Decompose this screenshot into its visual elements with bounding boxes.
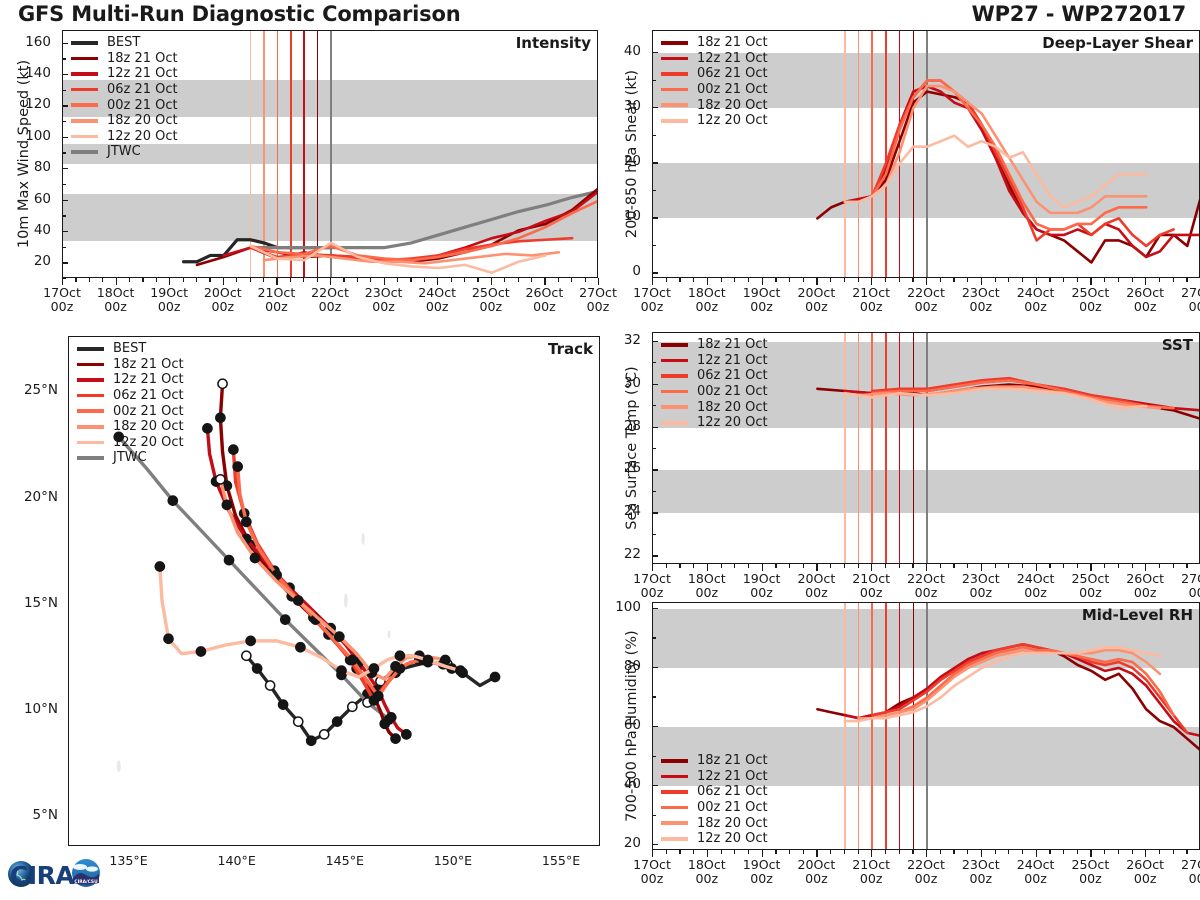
series-line xyxy=(845,644,1200,736)
x-axis-tick-mark xyxy=(762,564,763,571)
x-axis-minor-tick xyxy=(789,564,790,568)
y-axis-minor-tick xyxy=(652,448,656,449)
x-axis-minor-tick xyxy=(803,564,804,568)
x-axis-minor-tick xyxy=(912,850,913,854)
panel-rh: Mid-Level RH18z 21 Oct12z 21 Oct06z 21 O… xyxy=(608,602,1200,896)
x-axis-minor-tick xyxy=(1173,564,1174,568)
legend-item: 18z 21 Oct xyxy=(661,337,768,353)
x-axis-minor-tick xyxy=(1118,278,1119,282)
legend-item: 18z 20 Oct xyxy=(661,399,768,415)
legend-item: 00z 21 Oct xyxy=(71,97,178,113)
track-position-marker xyxy=(337,666,346,675)
x-axis-minor-tick xyxy=(1022,564,1023,568)
x-axis-minor-tick xyxy=(1104,278,1105,282)
y-axis-minor-tick xyxy=(62,90,66,91)
legend-item-label: 00z 21 Oct xyxy=(697,800,768,815)
track-position-marker xyxy=(307,736,316,745)
legend-item-label: BEST xyxy=(107,35,140,50)
y-axis-minor-tick xyxy=(62,152,66,153)
x-axis-minor-tick xyxy=(263,278,264,282)
legend-color-swatch xyxy=(661,775,688,779)
legend-item: 12z 20 Oct xyxy=(71,129,178,145)
x-axis-minor-tick xyxy=(789,278,790,282)
x-axis-minor-tick xyxy=(209,278,210,282)
x-axis-tick-mark xyxy=(816,278,817,285)
x-axis-minor-tick xyxy=(1104,564,1105,568)
x-axis-minor-tick xyxy=(858,564,859,568)
x-axis-minor-tick xyxy=(666,850,667,854)
legend-item: 18z 20 Oct xyxy=(661,815,768,831)
track-position-marker xyxy=(216,475,225,484)
legend-color-swatch xyxy=(661,405,688,409)
legend-item: BEST xyxy=(71,35,178,51)
panel-title-mid-level-rh: Mid-Level RH xyxy=(1082,606,1193,624)
x-axis-minor-tick xyxy=(1049,278,1050,282)
y-axis-minor-tick xyxy=(62,137,66,138)
x-axis-tick-label: 27Oct00z xyxy=(1160,858,1200,886)
track-position-marker xyxy=(203,424,212,433)
y-axis-minor-tick xyxy=(652,815,656,816)
y-axis-minor-tick xyxy=(652,534,656,535)
legend-item-label: 12z 20 Oct xyxy=(697,415,768,430)
legend-color-swatch xyxy=(661,88,688,92)
x-axis-minor-tick xyxy=(518,278,519,282)
plot-area-sst: SST18z 21 Oct12z 21 Oct06z 21 Oct00z 21 … xyxy=(652,332,1200,564)
legend-item: JTWC xyxy=(71,144,178,160)
y-axis-minor-tick xyxy=(62,58,66,59)
legend-item: 12z 21 Oct xyxy=(661,51,768,67)
x-axis-minor-tick xyxy=(844,850,845,854)
x-axis-minor-tick xyxy=(142,278,143,282)
x-axis-minor-tick xyxy=(1186,278,1187,282)
x-axis-minor-tick xyxy=(317,278,318,282)
x-axis-minor-tick xyxy=(129,278,130,282)
y-axis-minor-tick xyxy=(652,726,656,727)
legend-item-label: 18z 20 Oct xyxy=(107,113,178,128)
x-axis-minor-tick xyxy=(967,278,968,282)
legend-item: BEST xyxy=(77,341,184,357)
track-position-marker xyxy=(294,596,303,605)
track-position-marker xyxy=(348,702,357,711)
x-axis-tick-mark xyxy=(871,278,872,285)
x-axis-tick-label: 27Oct00z xyxy=(1160,286,1200,314)
x-axis-tick-mark xyxy=(1145,278,1146,285)
x-axis-tick-mark xyxy=(652,564,653,571)
legend-item: 00z 21 Oct xyxy=(661,800,768,816)
x-axis-minor-tick xyxy=(303,278,304,282)
x-axis-minor-tick xyxy=(666,278,667,282)
y-axis-label: 700-500 hPa Humidity (%) xyxy=(624,602,640,850)
y-axis-tick-label: 5°N xyxy=(0,807,58,823)
y-axis-minor-tick xyxy=(652,341,656,342)
x-axis-minor-tick xyxy=(830,278,831,282)
legend-item: 06z 21 Oct xyxy=(77,388,184,404)
y-axis-minor-tick xyxy=(652,469,656,470)
legend-color-swatch xyxy=(71,119,98,123)
svg-text:CIRA: CIRA xyxy=(10,861,75,890)
x-axis-tick-mark xyxy=(871,850,872,857)
legend-item-label: 12z 20 Oct xyxy=(113,435,184,450)
legend-color-swatch xyxy=(71,103,98,107)
x-axis-minor-tick xyxy=(679,850,680,854)
legend-color-swatch xyxy=(661,390,688,394)
y-axis-minor-tick xyxy=(62,74,66,75)
x-axis-minor-tick xyxy=(1132,278,1133,282)
y-axis-minor-tick xyxy=(652,190,656,191)
series-line xyxy=(251,201,598,261)
y-axis-minor-tick xyxy=(62,262,66,263)
y-axis-minor-tick xyxy=(62,215,66,216)
track-position-marker xyxy=(391,662,400,671)
legend-item-label: 06z 21 Oct xyxy=(107,82,178,97)
x-axis-tick-mark xyxy=(1036,278,1037,285)
x-axis-minor-tick xyxy=(885,850,886,854)
track-position-marker xyxy=(387,713,396,722)
x-axis-tick-mark xyxy=(598,278,599,285)
x-axis-minor-tick xyxy=(748,850,749,854)
x-axis-tick-mark xyxy=(1036,850,1037,857)
series-line xyxy=(197,188,598,265)
legend-color-swatch xyxy=(661,57,688,61)
panel-title-sst: SST xyxy=(1162,336,1193,354)
legend-color-swatch xyxy=(661,72,688,76)
track-position-marker xyxy=(369,664,378,673)
x-axis-minor-tick xyxy=(899,850,900,854)
x-axis-tick-label: 27Oct00z xyxy=(1160,572,1200,600)
x-axis-minor-tick xyxy=(940,278,941,282)
x-axis-tick-mark xyxy=(652,850,653,857)
diagnostic-figure: GFS Multi-Run Diagnostic Comparison WP27… xyxy=(0,0,1200,900)
x-axis-minor-tick xyxy=(397,278,398,282)
y-axis-tick-label: 15°N xyxy=(0,595,58,611)
x-axis-minor-tick xyxy=(844,564,845,568)
legend-item-label: JTWC xyxy=(113,450,147,465)
x-axis-tick-mark xyxy=(926,850,927,857)
legend-item: 06z 21 Oct xyxy=(71,82,178,98)
svg-text:CIRA/CSU: CIRA/CSU xyxy=(74,879,98,885)
x-axis-minor-tick xyxy=(1063,278,1064,282)
x-axis-tick-mark xyxy=(223,278,224,285)
legend-intensity: BEST18z 21 Oct12z 21 Oct06z 21 Oct00z 21… xyxy=(71,35,178,160)
x-axis-minor-tick xyxy=(679,278,680,282)
x-axis-minor-tick xyxy=(1049,564,1050,568)
legend-item-label: 00z 21 Oct xyxy=(697,384,768,399)
legend-item: 12z 20 Oct xyxy=(77,435,184,451)
track-position-marker xyxy=(164,634,173,643)
track-position-marker xyxy=(348,655,357,664)
legend-item-label: 12z 20 Oct xyxy=(107,129,178,144)
y-axis-label: 10m Max Wind Speed (kt) xyxy=(16,30,32,278)
legend-item-label: 18z 21 Oct xyxy=(113,357,184,372)
x-axis-minor-tick xyxy=(885,564,886,568)
y-axis-minor-tick xyxy=(652,756,656,757)
x-axis-minor-tick xyxy=(995,564,996,568)
y-axis-tick-label: 25°N xyxy=(0,382,58,398)
x-axis-tick-mark xyxy=(1145,564,1146,571)
x-axis-minor-tick xyxy=(995,850,996,854)
track-position-marker xyxy=(296,643,305,652)
legend-item: 00z 21 Oct xyxy=(661,82,768,98)
y-axis-minor-tick xyxy=(62,121,66,122)
x-axis-minor-tick xyxy=(734,278,735,282)
x-axis-minor-tick xyxy=(721,564,722,568)
y-axis-minor-tick xyxy=(652,427,656,428)
x-axis-minor-tick xyxy=(830,564,831,568)
panel-shear: Deep-Layer Shear18z 21 Oct12z 21 Oct06z … xyxy=(608,30,1200,324)
legend-item: 18z 20 Oct xyxy=(661,97,768,113)
x-axis-tick-label: 155°E xyxy=(521,854,601,868)
x-axis-minor-tick xyxy=(1132,564,1133,568)
track-position-marker xyxy=(281,615,290,624)
track-position-marker xyxy=(335,632,344,641)
cira-logo: CIRA CIRA/CSU xyxy=(4,852,116,896)
legend-color-swatch xyxy=(77,347,104,351)
x-axis-minor-tick xyxy=(953,278,954,282)
legend-item: 18z 20 Oct xyxy=(71,113,178,129)
x-axis-minor-tick xyxy=(940,850,941,854)
x-axis-tick-mark xyxy=(652,278,653,285)
legend-color-swatch xyxy=(71,41,98,45)
legend-item: 00z 21 Oct xyxy=(661,384,768,400)
x-axis-minor-tick xyxy=(748,564,749,568)
track-position-marker xyxy=(224,556,233,565)
legend-color-swatch xyxy=(661,343,688,347)
y-axis-minor-tick xyxy=(652,844,656,845)
x-axis-tick-mark xyxy=(384,278,385,285)
y-axis-minor-tick xyxy=(652,785,656,786)
legend-item-label: 18z 21 Oct xyxy=(697,753,768,768)
x-axis-minor-tick xyxy=(912,564,913,568)
y-axis-tick-label: 10°N xyxy=(0,701,58,717)
x-axis-tick-mark xyxy=(1090,850,1091,857)
y-axis-minor-tick xyxy=(652,135,656,136)
x-axis-tick-mark xyxy=(437,278,438,285)
x-axis-minor-tick xyxy=(775,564,776,568)
y-axis-minor-tick xyxy=(652,384,656,385)
x-axis-minor-tick xyxy=(156,278,157,282)
x-axis-minor-tick xyxy=(477,278,478,282)
legend-mid-level-rh: 18z 21 Oct12z 21 Oct06z 21 Oct00z 21 Oct… xyxy=(661,753,768,847)
y-axis-tick-label: 20°N xyxy=(0,489,58,505)
x-axis-minor-tick xyxy=(1077,564,1078,568)
legend-item: 18z 21 Oct xyxy=(661,753,768,769)
legend-color-swatch xyxy=(77,425,104,429)
legend-item-label: 12z 21 Oct xyxy=(113,372,184,387)
y-axis-minor-tick xyxy=(62,231,66,232)
series-line xyxy=(845,86,1200,257)
y-axis-minor-tick xyxy=(652,491,656,492)
legend-item-label: 00z 21 Oct xyxy=(697,82,768,97)
x-axis-tick-mark xyxy=(981,850,982,857)
x-axis-minor-tick xyxy=(1049,850,1050,854)
y-axis-label: Sea Surface Temp (°C) xyxy=(624,332,640,564)
legend-item-label: 00z 21 Oct xyxy=(107,98,178,113)
x-axis-minor-tick xyxy=(370,278,371,282)
legend-color-swatch xyxy=(77,363,104,367)
x-axis-minor-tick xyxy=(1022,278,1023,282)
panel-track: TrackBEST18z 21 Oct12z 21 Oct06z 21 Oct0… xyxy=(0,336,608,892)
track-position-marker xyxy=(391,734,400,743)
x-axis-minor-tick xyxy=(585,278,586,282)
track-position-marker xyxy=(222,500,231,509)
legend-color-swatch xyxy=(661,759,688,763)
x-axis-minor-tick xyxy=(679,564,680,568)
legend-item-label: 18z 20 Oct xyxy=(697,98,768,113)
x-axis-minor-tick xyxy=(290,278,291,282)
x-axis-tick-mark xyxy=(707,564,708,571)
track-position-marker xyxy=(242,517,251,526)
x-axis-tick-mark xyxy=(1090,278,1091,285)
y-axis-minor-tick xyxy=(62,105,66,106)
x-axis-minor-tick xyxy=(196,278,197,282)
y-axis-minor-tick xyxy=(652,667,656,668)
x-axis-tick-mark xyxy=(707,850,708,857)
legend-color-swatch xyxy=(71,88,98,92)
x-axis-minor-tick xyxy=(940,564,941,568)
legend-item-label: 18z 20 Oct xyxy=(113,419,184,434)
legend-deep-layer-shear: 18z 21 Oct12z 21 Oct06z 21 Oct00z 21 Oct… xyxy=(661,35,768,129)
x-axis-minor-tick xyxy=(693,278,694,282)
x-axis-minor-tick xyxy=(343,278,344,282)
x-axis-minor-tick xyxy=(75,278,76,282)
legend-item-label: 18z 20 Oct xyxy=(697,400,768,415)
legend-item: 12z 21 Oct xyxy=(661,353,768,369)
y-axis-minor-tick xyxy=(652,80,656,81)
legend-item-label: 12z 21 Oct xyxy=(697,353,768,368)
x-axis-minor-tick xyxy=(1186,850,1187,854)
track-position-marker xyxy=(456,666,465,675)
legend-item-label: 12z 20 Oct xyxy=(697,831,768,846)
x-axis-minor-tick xyxy=(1173,278,1174,282)
legend-item-label: BEST xyxy=(113,341,146,356)
x-axis-minor-tick xyxy=(995,278,996,282)
panel-sst: SST18z 21 Oct12z 21 Oct06z 21 Oct00z 21 … xyxy=(608,332,1200,610)
x-axis-minor-tick xyxy=(558,278,559,282)
x-axis-tick-mark xyxy=(816,850,817,857)
legend-color-swatch xyxy=(77,409,104,413)
track-position-marker xyxy=(155,562,164,571)
x-axis-minor-tick xyxy=(775,850,776,854)
legend-color-swatch xyxy=(77,456,104,460)
x-axis-tick-mark xyxy=(981,278,982,285)
legend-color-swatch xyxy=(661,374,688,378)
x-axis-minor-tick xyxy=(844,278,845,282)
x-axis-minor-tick xyxy=(858,850,859,854)
legend-item: 12z 21 Oct xyxy=(77,372,184,388)
track-position-marker xyxy=(423,655,432,664)
x-axis-minor-tick xyxy=(1077,850,1078,854)
plot-area-mid-level-rh: Mid-Level RH18z 21 Oct12z 21 Oct06z 21 O… xyxy=(652,602,1200,850)
track-position-marker xyxy=(168,496,177,505)
x-axis-minor-tick xyxy=(1173,850,1174,854)
x-axis-minor-tick xyxy=(504,278,505,282)
x-axis-minor-tick xyxy=(410,278,411,282)
legend-item-label: 00z 21 Oct xyxy=(113,404,184,419)
x-axis-minor-tick xyxy=(1118,564,1119,568)
y-axis-minor-tick xyxy=(652,608,656,609)
legend-item-label: 12z 21 Oct xyxy=(697,51,768,66)
x-axis-minor-tick xyxy=(1008,278,1009,282)
legend-item-label: 12z 21 Oct xyxy=(107,66,178,81)
legend-item: 12z 20 Oct xyxy=(661,831,768,847)
x-axis-minor-tick xyxy=(357,278,358,282)
x-axis-minor-tick xyxy=(721,850,722,854)
track-position-marker xyxy=(278,700,287,709)
x-axis-minor-tick xyxy=(693,564,694,568)
x-axis-minor-tick xyxy=(451,278,452,282)
legend-color-swatch xyxy=(77,394,104,398)
y-axis-minor-tick xyxy=(652,162,656,163)
legend-item-label: 18z 21 Oct xyxy=(697,337,768,352)
legend-color-swatch xyxy=(661,119,688,123)
x-axis-tick-label: 140°E xyxy=(197,854,277,868)
x-axis-tick-mark xyxy=(276,278,277,285)
legend-item-label: 18z 21 Oct xyxy=(697,35,768,50)
x-axis-minor-tick xyxy=(734,564,735,568)
x-axis-minor-tick xyxy=(531,278,532,282)
x-axis-minor-tick xyxy=(953,564,954,568)
x-axis-minor-tick xyxy=(464,278,465,282)
legend-item: 06z 21 Oct xyxy=(661,66,768,82)
x-axis-minor-tick xyxy=(1077,278,1078,282)
x-axis-minor-tick xyxy=(424,278,425,282)
y-axis-minor-tick xyxy=(62,200,66,201)
legend-color-swatch xyxy=(71,135,98,139)
x-axis-tick-mark xyxy=(330,278,331,285)
track-position-marker xyxy=(490,672,499,681)
legend-color-swatch xyxy=(661,806,688,810)
x-axis-minor-tick xyxy=(967,564,968,568)
y-axis-minor-tick xyxy=(652,52,656,53)
x-axis-minor-tick xyxy=(89,278,90,282)
legend-color-swatch xyxy=(661,359,688,363)
panel-title-deep-layer-shear: Deep-Layer Shear xyxy=(1042,34,1193,52)
x-axis-minor-tick xyxy=(803,850,804,854)
legend-color-swatch xyxy=(661,41,688,45)
legend-item-label: 18z 20 Oct xyxy=(697,816,768,831)
legend-color-swatch xyxy=(661,103,688,107)
x-axis-minor-tick xyxy=(967,850,968,854)
x-axis-minor-tick xyxy=(1159,278,1160,282)
page-title: GFS Multi-Run Diagnostic Comparison xyxy=(18,2,460,26)
y-axis-minor-tick xyxy=(62,43,66,44)
x-axis-minor-tick xyxy=(1104,850,1105,854)
track-position-marker xyxy=(233,462,242,471)
x-axis-minor-tick xyxy=(885,278,886,282)
track-position-marker xyxy=(333,717,342,726)
legend-item-label: 12z 20 Oct xyxy=(697,113,768,128)
track-position-marker xyxy=(250,553,259,562)
x-axis-tick-mark xyxy=(1090,564,1091,571)
y-axis-minor-tick xyxy=(652,107,656,108)
legend-item: 18z 21 Oct xyxy=(77,357,184,373)
legend-color-swatch xyxy=(661,421,688,425)
x-axis-tick-mark xyxy=(762,278,763,285)
y-axis-minor-tick xyxy=(652,555,656,556)
legend-color-swatch xyxy=(77,441,104,445)
track-position-marker xyxy=(196,647,205,656)
x-axis-minor-tick xyxy=(1159,564,1160,568)
storm-id-title: WP27 - WP272017 xyxy=(972,2,1186,26)
y-axis-minor-tick xyxy=(652,217,656,218)
legend-item-label: JTWC xyxy=(107,144,141,159)
plot-area-track: TrackBEST18z 21 Oct12z 21 Oct06z 21 Oct0… xyxy=(68,336,600,846)
legend-item-label: 06z 21 Oct xyxy=(697,368,768,383)
panel-intensity: IntensityBEST18z 21 Oct12z 21 Oct06z 21 … xyxy=(0,30,606,324)
track-position-marker xyxy=(402,730,411,739)
x-axis-tick-mark xyxy=(816,564,817,571)
x-axis-minor-tick xyxy=(721,278,722,282)
